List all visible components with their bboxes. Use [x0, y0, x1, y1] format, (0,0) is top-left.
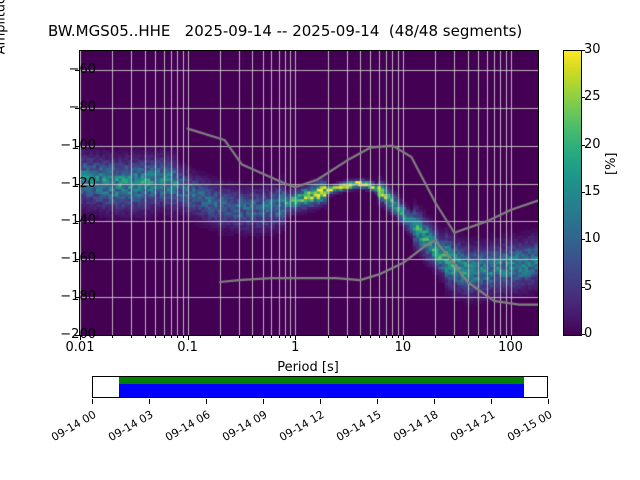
x-axis-minor-tick-mark	[398, 335, 399, 338]
time-axis-tick-mark	[320, 399, 321, 404]
x-axis-minor-tick-mark	[131, 335, 132, 338]
time-axis-tick-mark	[263, 399, 264, 404]
time-axis-tick-mark	[206, 399, 207, 404]
ppsd-plot-area	[79, 50, 539, 336]
y-axis-tick-mark	[75, 184, 79, 185]
y-axis-tick-label: −100	[36, 138, 96, 153]
x-axis-minor-tick-mark	[279, 335, 280, 338]
x-axis-label: Period [s]	[79, 360, 537, 375]
x-axis-minor-tick-mark	[328, 335, 329, 338]
x-axis-minor-tick-mark	[379, 335, 380, 338]
x-axis-minor-tick-mark	[370, 335, 371, 338]
x-axis-minor-tick-mark	[494, 335, 495, 338]
x-axis-minor-tick-mark	[252, 335, 253, 338]
x-axis-tick-label: 1	[265, 340, 325, 355]
data-coverage-strip	[92, 376, 548, 398]
y-axis-tick-mark	[75, 335, 79, 336]
colorbar-tick-mark	[581, 192, 585, 193]
time-axis-tick-mark	[548, 399, 549, 404]
colorbar-tick-mark	[581, 239, 585, 240]
x-axis-minor-tick-mark	[263, 335, 264, 338]
x-axis-major-tick-mark	[295, 335, 296, 340]
x-axis-minor-tick-mark	[392, 335, 393, 338]
x-axis-minor-tick-mark	[347, 335, 348, 338]
time-axis-tick-label: 09-14 12	[272, 408, 327, 447]
y-axis-tick-label: −80	[36, 100, 96, 115]
time-axis-tick-label: 09-14 09	[215, 408, 270, 447]
y-axis-tick-mark	[75, 108, 79, 109]
x-axis-major-tick-mark	[511, 335, 512, 340]
x-axis-minor-tick-mark	[285, 335, 286, 338]
time-axis-tick-mark	[149, 399, 150, 404]
x-axis-minor-tick-mark	[177, 335, 178, 338]
colorbar-tick-label: 30	[584, 42, 601, 57]
time-axis-tick-mark	[491, 399, 492, 404]
time-axis-tick-mark	[92, 399, 93, 404]
y-axis-tick-label: −120	[36, 176, 96, 191]
x-axis-minor-tick-mark	[386, 335, 387, 338]
time-axis-tick-mark	[377, 399, 378, 404]
x-axis-minor-tick-mark	[145, 335, 146, 338]
time-axis-tick-label: 09-14 18	[386, 408, 441, 447]
y-axis-tick-label: −140	[36, 213, 96, 228]
y-axis-tick-mark	[75, 221, 79, 222]
x-axis-major-tick-mark	[80, 335, 81, 340]
time-axis-tick-label: 09-14 00	[44, 408, 99, 447]
x-axis-tick-label: 0.1	[158, 340, 218, 355]
y-axis-label: Amplitude [m2/s4/Hz] [dB]	[0, 0, 8, 80]
colorbar-tick-mark	[581, 287, 585, 288]
x-axis-tick-label: 10	[373, 340, 433, 355]
x-axis-minor-tick-mark	[290, 335, 291, 338]
coverage-bar-blue	[119, 384, 524, 397]
x-axis-minor-tick-mark	[112, 335, 113, 338]
time-axis-tick-mark	[434, 399, 435, 404]
x-axis-minor-tick-mark	[468, 335, 469, 338]
colorbar-tick-mark	[581, 145, 585, 146]
time-axis-tick-label: 09-14 06	[158, 408, 213, 447]
colorbar-label: [%]	[604, 153, 619, 176]
x-axis-minor-tick-mark	[454, 335, 455, 338]
x-axis-minor-tick-mark	[500, 335, 501, 338]
time-axis-tick-label: 09-14 15	[329, 408, 384, 447]
colorbar-tick-label: 5	[584, 279, 592, 294]
x-axis-minor-tick-mark	[155, 335, 156, 338]
y-axis-tick-label: −180	[36, 289, 96, 304]
x-axis-major-tick-mark	[188, 335, 189, 340]
x-axis-tick-label: 100	[481, 340, 541, 355]
x-axis-minor-tick-mark	[478, 335, 479, 338]
y-axis-label-prefix: Amplitude [	[0, 0, 8, 54]
colorbar-tick-label: 15	[584, 184, 601, 199]
page-title: BW.MGS05..HHE 2025-09-14 -- 2025-09-14 (…	[48, 22, 522, 40]
colorbar-tick-mark	[581, 50, 585, 51]
colorbar-tick-label: 10	[584, 231, 601, 246]
y-axis-tick-mark	[75, 297, 79, 298]
y-axis-tick-mark	[75, 146, 79, 147]
time-axis-tick-label: 09-15 00	[500, 408, 555, 447]
x-axis-major-tick-mark	[403, 335, 404, 340]
colorbar-gradient	[564, 51, 581, 335]
x-axis-minor-tick-mark	[183, 335, 184, 338]
x-axis-minor-tick-mark	[164, 335, 165, 338]
y-axis-tick-mark	[75, 259, 79, 260]
time-axis-tick-label: 09-14 03	[101, 408, 156, 447]
x-axis-minor-tick-mark	[435, 335, 436, 338]
x-axis-tick-label: 0.01	[50, 340, 110, 355]
colorbar-tick-label: 25	[584, 89, 601, 104]
x-axis-minor-tick-mark	[220, 335, 221, 338]
x-axis-minor-tick-mark	[271, 335, 272, 338]
colorbar-tick-label: 0	[584, 326, 592, 341]
y-axis-tick-label: −160	[36, 251, 96, 266]
coverage-bar-green	[119, 377, 524, 384]
x-axis-minor-tick-mark	[360, 335, 361, 338]
colorbar-tick-mark	[581, 334, 585, 335]
x-axis-minor-tick-mark	[487, 335, 488, 338]
colorbar	[563, 50, 582, 336]
time-axis-tick-label: 09-14 21	[443, 408, 498, 447]
x-axis-minor-tick-mark	[239, 335, 240, 338]
x-axis-minor-tick-mark	[171, 335, 172, 338]
colorbar-tick-mark	[581, 97, 585, 98]
peterson-noise-model-curves	[80, 51, 538, 335]
y-axis-tick-label: −60	[36, 62, 96, 77]
x-axis-minor-tick-mark	[506, 335, 507, 338]
y-axis-tick-mark	[75, 70, 79, 71]
colorbar-tick-label: 20	[584, 137, 601, 152]
